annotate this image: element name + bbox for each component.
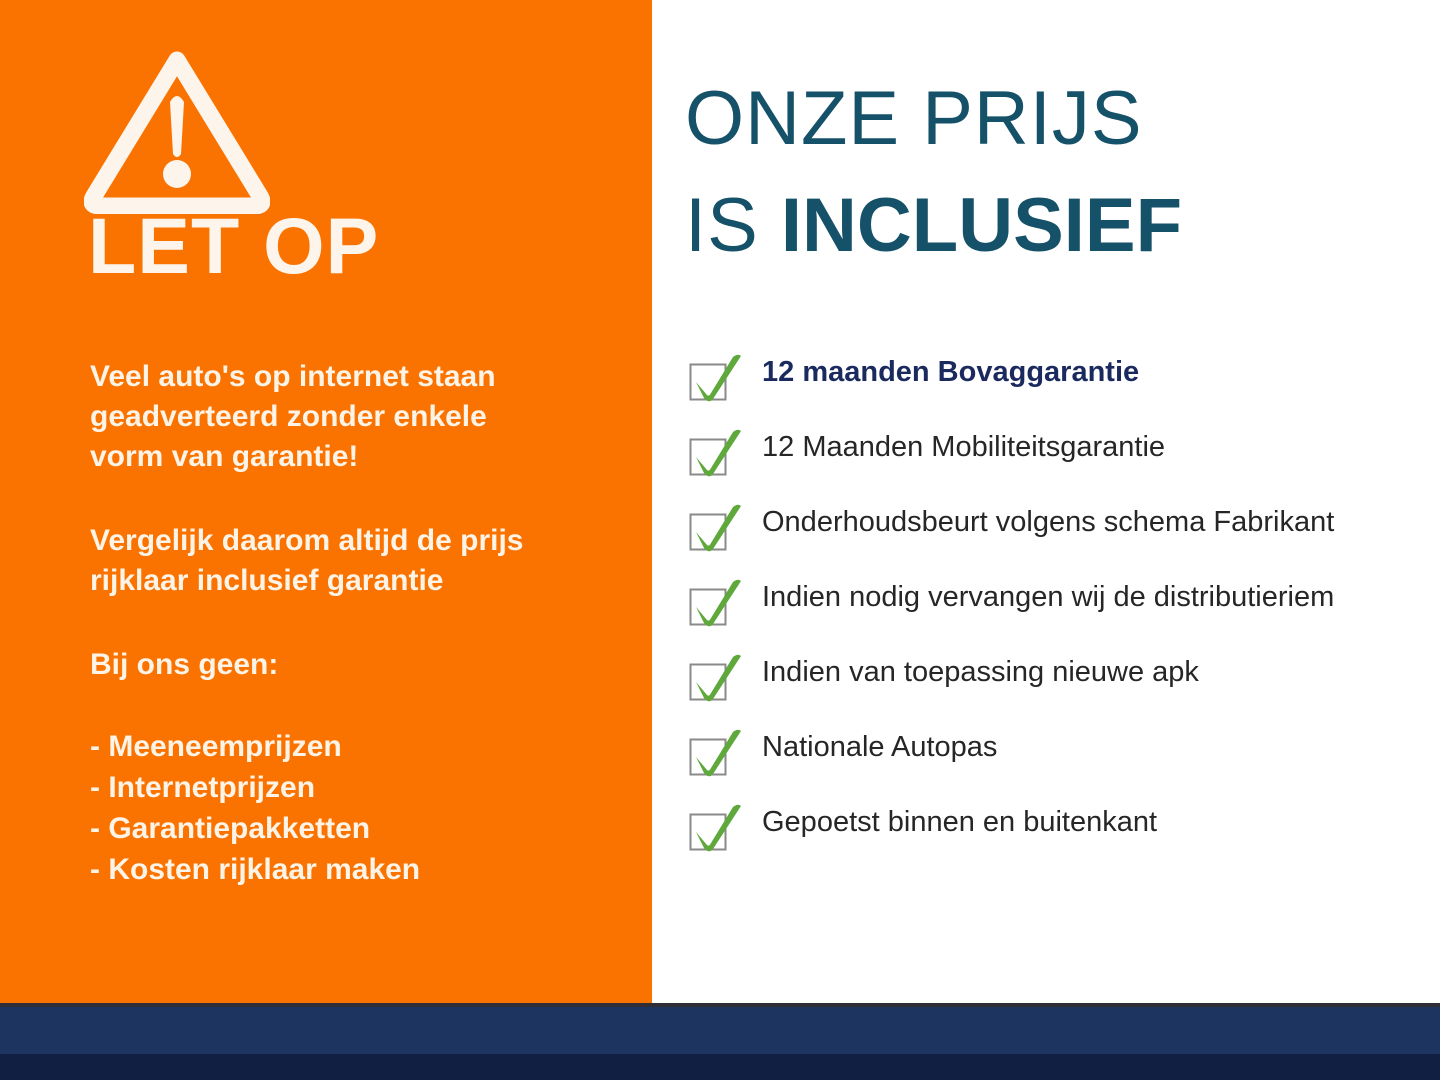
list-item-label: Gepoetst binnen en buitenkant [762,804,1157,840]
checkbox-checked-icon [689,652,745,708]
warning-paragraph-1: Veel auto's op internet staan geadvertee… [90,357,630,477]
checkbox-checked-icon [689,352,745,408]
list-item-label: Indien nodig vervangen wij de distributi… [762,579,1334,615]
list-item-label: Indien van toepassing nieuwe apk [762,654,1199,690]
checkbox-checked-icon [689,802,745,858]
list-item: - Kosten rijklaar maken [90,849,630,890]
list-item-label: 12 Maanden Mobiliteitsgarantie [762,429,1165,465]
inclusions-panel: ONZE PRIJS IS INCLUSIEF 12 maanden Bovag… [652,0,1440,1003]
list-item-label: Nationale Autopas [762,729,997,765]
list-item-label: Onderhoudsbeurt volgens schema Fabrikant [762,504,1334,540]
headline-text-onze-prijs: ONZE PRIJS [685,76,1143,161]
checkbox-checked-icon [689,427,745,483]
warning-panel: LET OP Veel auto's op internet staan gea… [0,0,652,1003]
list-item: - Garantiepakketten [90,808,630,849]
checkbox-checked-icon [689,727,745,783]
warning-paragraph-2: Vergelijk daarom altijd de prijs rijklaa… [90,521,630,601]
checkbox-checked-icon [689,502,745,558]
headline-text-is: IS [685,183,781,268]
list-item-label: 12 maanden Bovaggarantie [762,354,1139,390]
footer-bar-lower [0,1054,1440,1080]
footer-divider [0,1003,1440,1007]
exclusions-heading: Bij ons geen: [90,645,630,685]
headline-line-2: IS INCLUSIEF [685,183,1182,290]
warning-triangle-icon [84,46,270,214]
checkbox-checked-icon [689,577,745,633]
list-item: - Meeneemprijzen [90,726,630,767]
headline: ONZE PRIJS IS INCLUSIEF [685,76,1182,290]
headline-text-inclusief: INCLUSIEF [781,183,1182,268]
footer-bar [0,1003,1440,1080]
exclusions-list: - Meeneemprijzen - Internetprijzen - Gar… [90,726,630,890]
page-title: LET OP [88,206,379,285]
promo-banner: LET OP Veel auto's op internet staan gea… [0,0,1440,1080]
list-item: - Internetprijzen [90,767,630,808]
headline-line-1: ONZE PRIJS [685,76,1182,183]
